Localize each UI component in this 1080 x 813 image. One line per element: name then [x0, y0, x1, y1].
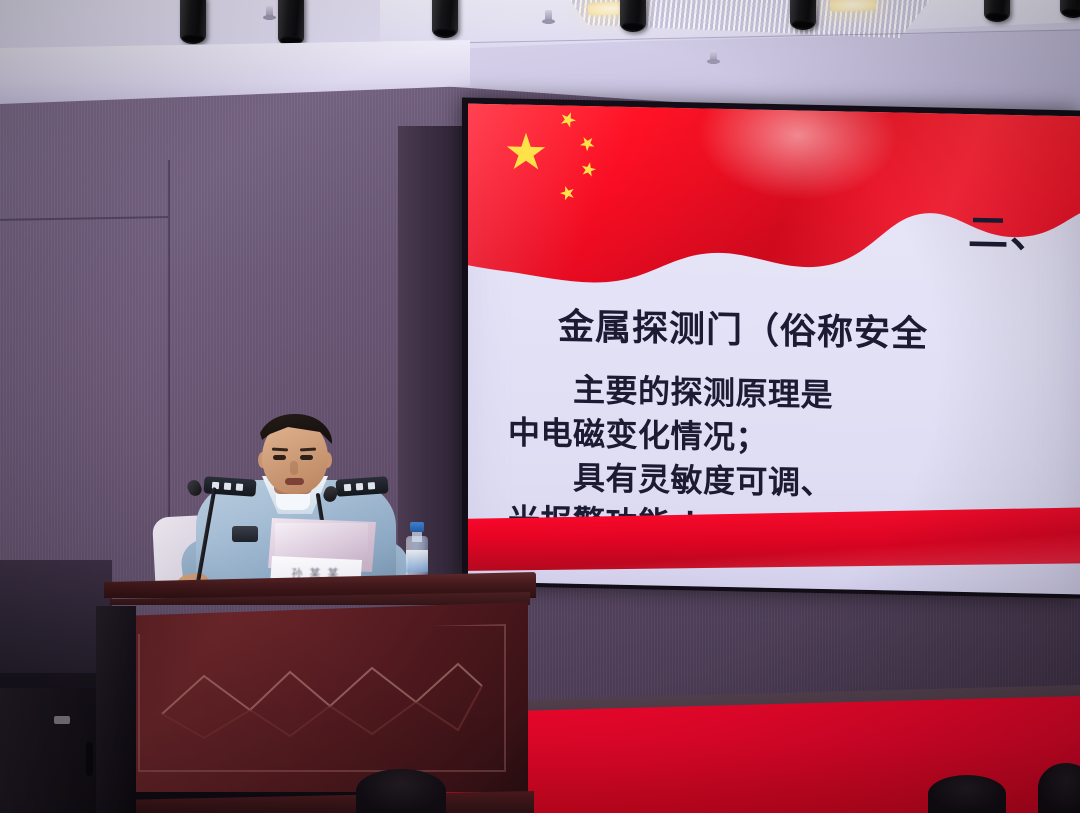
speaker-stand-left — [96, 606, 136, 813]
pendant-spotlight — [984, 0, 1010, 22]
speaker-bass-port — [86, 742, 93, 776]
sprinkler-head — [266, 6, 273, 20]
podium-ornament-svg — [158, 646, 486, 742]
spotlight-lens — [280, 36, 302, 44]
pendant-spotlight — [620, 0, 646, 32]
spotlight-lens — [622, 22, 644, 30]
audience-head — [356, 769, 446, 813]
nose — [290, 461, 298, 475]
bottle-label — [406, 550, 428, 572]
rank-bar — [368, 482, 375, 489]
slide-heading: 金属探测门（俗称安全 — [558, 297, 928, 357]
speaker-brand-logo — [54, 716, 70, 724]
podium — [104, 572, 536, 813]
rank-bar — [236, 483, 243, 490]
eye-right — [300, 455, 313, 460]
podium-base-moulding — [114, 791, 534, 813]
rank-bar — [224, 483, 231, 490]
presentation-screen[interactable]: 二、 金属探测门（俗称安全 主要的探测原理是 中电磁变化情况； 具有灵敏度可调、… — [468, 104, 1080, 595]
sprinkler-head — [710, 50, 717, 64]
eye-left — [273, 455, 286, 460]
spotlight-lens — [434, 28, 456, 36]
pendant-spotlight — [432, 0, 458, 38]
sprinkler-head — [545, 10, 552, 24]
recessed-lamp — [830, 0, 876, 12]
spotlight-lens — [1062, 8, 1080, 16]
conference-hall-photo: 二、 金属探测门（俗称安全 主要的探测原理是 中电磁变化情况； 具有灵敏度可调、… — [0, 0, 1080, 813]
pendant-spotlight — [278, 0, 304, 46]
spotlight-lens — [182, 34, 204, 42]
rank-bar — [344, 484, 351, 491]
spotlight-lens — [792, 20, 814, 28]
slide-section-number: 二、 — [968, 200, 1052, 260]
spotlight-lens — [986, 12, 1008, 20]
rank-bar — [356, 483, 363, 490]
pendant-spotlight — [180, 0, 206, 44]
pendant-spotlight — [1060, 0, 1080, 18]
audience-head — [928, 775, 1006, 813]
epaulette-right — [335, 476, 388, 497]
uniform-badge — [232, 526, 258, 542]
mouth — [285, 478, 304, 485]
red-ribbon — [468, 493, 1080, 585]
bottle-cap — [410, 522, 424, 532]
podium-diamond-ornament — [158, 646, 486, 742]
slide-bottom-ribbon-area — [468, 490, 1080, 595]
pendant-spotlight — [790, 0, 816, 30]
audience-head — [1038, 763, 1080, 813]
